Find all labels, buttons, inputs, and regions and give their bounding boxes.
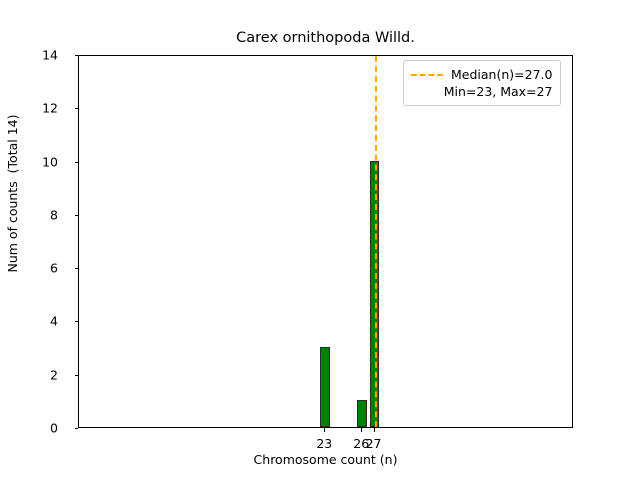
y-tick-mark: [75, 108, 79, 109]
plot-area: [78, 55, 573, 428]
y-tick-mark: [75, 321, 79, 322]
legend-label-minmax: Min=23, Max=27: [411, 84, 552, 99]
x-tick-mark: [374, 428, 375, 432]
bar-26: [357, 400, 367, 427]
bar-23: [320, 347, 330, 427]
y-tick-label: 10: [18, 154, 58, 169]
y-tick-label: 2: [18, 367, 58, 382]
y-tick-label: 12: [18, 101, 58, 116]
x-tick-label: 23: [304, 436, 344, 451]
chart-title: Carex ornithopoda Willd.: [78, 30, 573, 46]
x-axis-label: Chromosome count (n): [78, 452, 573, 467]
chart-figure: Carex ornithopoda Willd. 02468101214 232…: [0, 0, 640, 480]
y-tick-label: 14: [18, 48, 58, 63]
y-tick-label: 8: [18, 207, 58, 222]
y-tick-label: 4: [18, 314, 58, 329]
y-tick-label: 0: [18, 421, 58, 436]
x-tick-mark: [324, 428, 325, 432]
y-tick-mark: [75, 375, 79, 376]
legend-row-median: Median(n)=27.0: [411, 67, 552, 82]
y-tick-mark: [75, 55, 79, 56]
median-line: [375, 56, 377, 427]
y-tick-label: 6: [18, 261, 58, 276]
median-dashed-line-icon: [411, 74, 443, 76]
legend: Median(n)=27.0 Min=23, Max=27: [403, 60, 561, 106]
legend-label-median: Median(n)=27.0: [451, 67, 552, 82]
y-axis-label: Num of counts (Total 14): [5, 7, 20, 380]
y-tick-mark: [75, 268, 79, 269]
x-tick-label: 27: [354, 436, 394, 451]
y-tick-mark: [75, 428, 79, 429]
y-tick-mark: [75, 162, 79, 163]
y-tick-mark: [75, 215, 79, 216]
x-tick-mark: [361, 428, 362, 432]
